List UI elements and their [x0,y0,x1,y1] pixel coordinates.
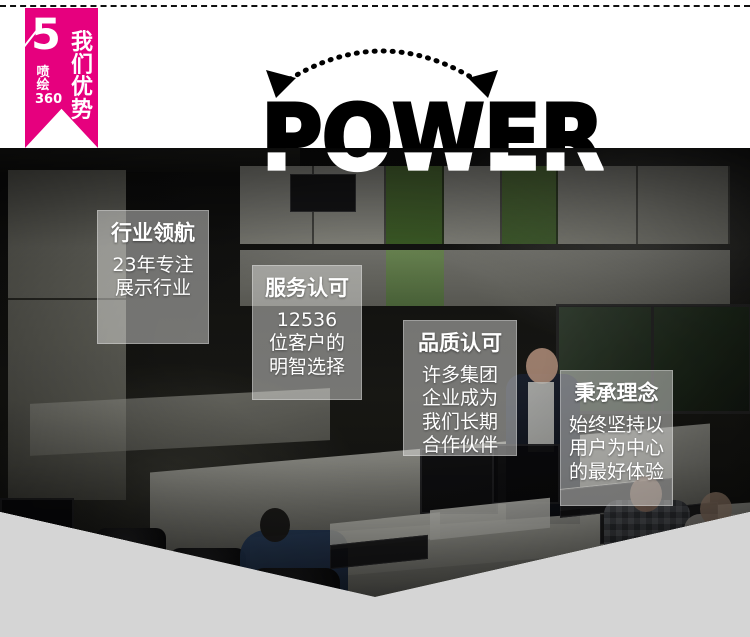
advantage-card-4-line-1: 始终坚持以 [561,414,672,437]
advantage-card-2-line-3: 明智选择 [253,356,361,379]
advantage-card-4-line-3: 的最好体验 [561,461,672,484]
advantage-card-1: 行业领航 23年专注 展示行业 [97,210,209,344]
advantage-card-3-title: 品质认可 [404,331,516,356]
advantage-card-3-line-2: 企业成为 [404,387,516,410]
double-arrow-arc-icon [262,22,502,100]
ribbon-title: 我们优势 [69,32,95,123]
advantage-card-2-line-2: 位客户的 [253,332,361,355]
advantage-card-2: 服务认可 12536 位客户的 明智选择 [252,265,362,400]
advantage-card-1-line-2: 展示行业 [98,277,208,300]
advantage-card-4-line-2: 用户为中心 [561,437,672,460]
advantage-card-3-line-3: 我们长期 [404,411,516,434]
advantage-card-3-line-4: 合作伙伴 [404,434,516,457]
advantage-card-1-line-1: 23年专注 [98,254,208,277]
advantage-card-3: 品质认可 许多集团 企业成为 我们长期 合作伙伴 [403,320,517,456]
advantage-card-4: 秉承理念 始终坚持以 用户为中心 的最好体验 [560,370,673,506]
ribbon-number: 5 [31,14,59,57]
ribbon-brand: 喷绘360 [35,66,51,106]
advantage-card-3-line-1: 许多集团 [404,364,516,387]
promo-banner-page: 5 我们优势 喷绘360 POWER [0,0,750,637]
top-dashed-divider [0,5,750,7]
section-ribbon-badge: 5 我们优势 喷绘360 [25,8,98,148]
advantage-card-4-title: 秉承理念 [561,381,672,406]
advantage-card-1-title: 行业领航 [98,221,208,246]
advantage-card-2-title: 服务认可 [253,276,361,301]
advantage-card-2-line-1: 12536 [253,309,361,332]
